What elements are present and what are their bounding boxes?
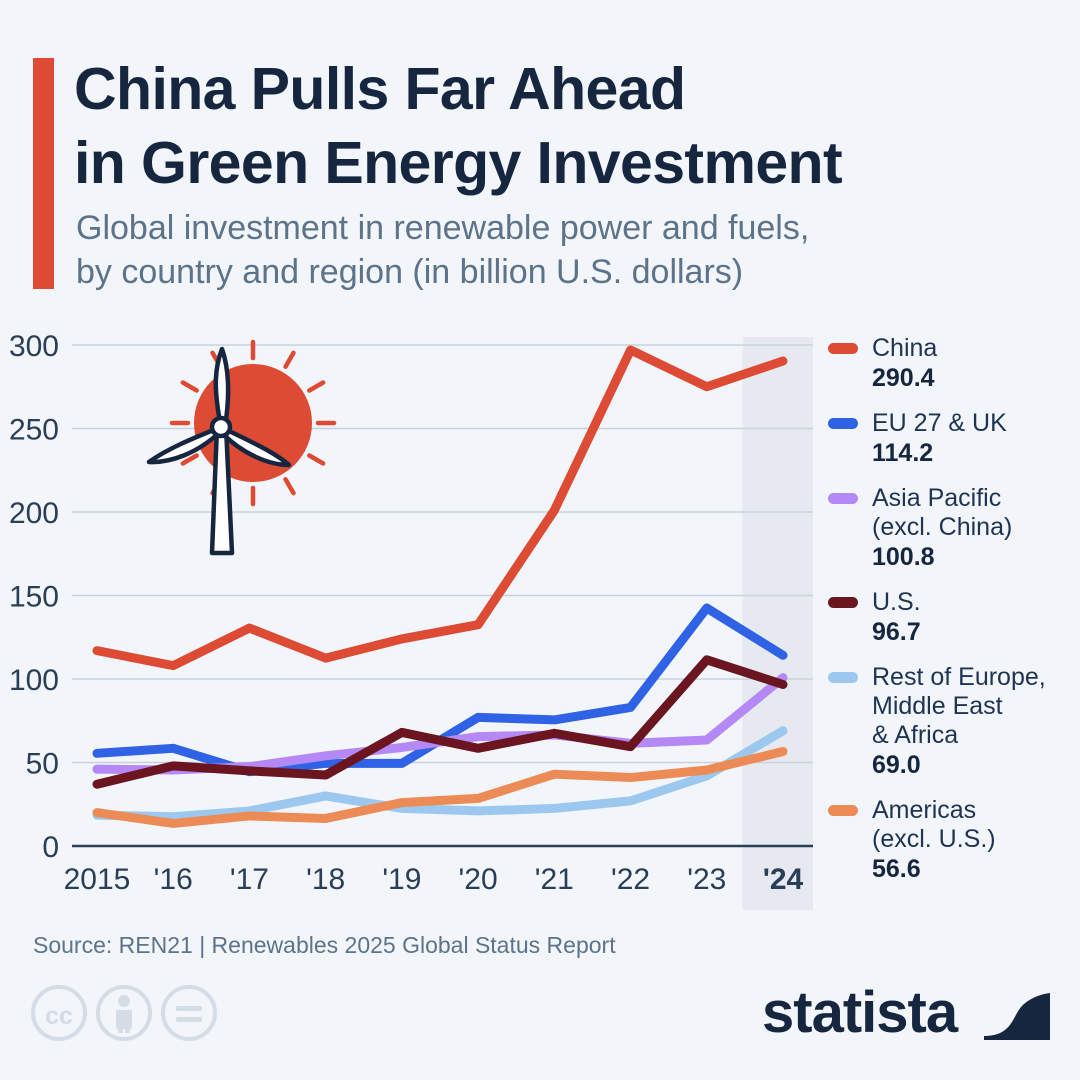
legend-value: 96.7 <box>872 617 1078 647</box>
cc-nd-icon[interactable] <box>163 987 215 1039</box>
legend-item[interactable]: Americas (excl. U.S.)56.6 <box>828 796 1078 884</box>
legend-text: Asia Pacific (excl. China)100.8 <box>872 484 1078 572</box>
x-tick-label: '22 <box>611 863 650 896</box>
turbine-tower-icon <box>212 427 232 553</box>
page-title: China Pulls Far Ahead in Green Energy In… <box>74 52 1034 200</box>
source-note: Source: REN21 | Renewables 2025 Global S… <box>33 932 616 959</box>
legend-text: Americas (excl. U.S.)56.6 <box>872 796 1078 884</box>
legend-text: China290.4 <box>872 334 1078 393</box>
x-tick-label: '18 <box>306 863 345 896</box>
legend-value: 114.2 <box>872 438 1078 468</box>
legend-text: EU 27 & UK114.2 <box>872 409 1078 468</box>
subtitle-line-1: Global investment in renewable power and… <box>76 206 1016 250</box>
legend-swatch-icon <box>828 343 858 354</box>
page-subtitle: Global investment in renewable power and… <box>76 206 1016 294</box>
legend-value: 100.8 <box>872 542 1078 572</box>
x-tick-label: '21 <box>535 863 574 896</box>
legend-swatch-icon <box>828 597 858 608</box>
y-tick-label: 50 <box>26 748 59 781</box>
legend-label: EU 27 & UK <box>872 409 1078 438</box>
y-tick-label: 150 <box>9 581 59 614</box>
turbine-hub-icon <box>212 418 230 436</box>
legend-value: 290.4 <box>872 363 1078 393</box>
person-glyph <box>116 995 132 1033</box>
y-tick-label: 250 <box>9 414 59 447</box>
title-line-2: in Green Energy Investment <box>74 126 1034 200</box>
legend-item[interactable]: Asia Pacific (excl. China)100.8 <box>828 484 1078 572</box>
y-tick-label: 100 <box>9 664 59 697</box>
gridlines-group <box>72 345 813 763</box>
y-tick-label: 300 <box>9 330 59 363</box>
title-line-1: China Pulls Far Ahead <box>74 52 1034 126</box>
x-tick-label: 2015 <box>64 863 131 896</box>
legend-label: Americas (excl. U.S.) <box>872 796 1078 854</box>
subtitle-line-2: by country and region (in billion U.S. d… <box>76 250 1016 294</box>
legend-value: 69.0 <box>872 750 1078 780</box>
legend-label: Asia Pacific (excl. China) <box>872 484 1078 542</box>
chart-legend: China290.4EU 27 & UK114.2Asia Pacific (e… <box>828 334 1078 900</box>
legend-label: U.S. <box>872 588 1078 617</box>
legend-swatch-icon <box>828 805 858 816</box>
creative-commons-icons[interactable]: cc <box>30 980 230 1046</box>
legend-swatch-icon <box>828 418 858 429</box>
wind-turbine-and-sun-illustration <box>149 342 334 553</box>
x-tick-label: '24 <box>763 863 804 896</box>
x-tick-labels-group: 2015'16'17'18'19'20'21'22'23'24 <box>64 863 804 896</box>
legend-swatch-icon <box>828 672 858 683</box>
cc-glyph: cc <box>45 1002 73 1030</box>
footer: cc statista <box>0 980 1080 1080</box>
statista-wordmark: statista <box>762 980 959 1045</box>
y-tick-label: 200 <box>9 497 59 530</box>
statista-mark <box>984 988 1050 1040</box>
y-tick-labels-group: 050100150200250300 <box>9 330 59 864</box>
legend-text: U.S.96.7 <box>872 588 1078 647</box>
x-tick-label: '23 <box>687 863 726 896</box>
highlight-band-group <box>743 337 813 910</box>
legend-value: 56.6 <box>872 854 1078 884</box>
x-tick-label: '19 <box>382 863 421 896</box>
statista-logo: statista <box>762 980 1052 1050</box>
x-tick-label: '16 <box>154 863 193 896</box>
x-tick-label: '20 <box>459 863 498 896</box>
highlight-band <box>743 337 813 910</box>
equals-glyph <box>176 1006 202 1022</box>
y-tick-label: 0 <box>42 831 59 864</box>
legend-text: Rest of Europe, Middle East & Africa69.0 <box>872 663 1078 780</box>
legend-item[interactable]: Rest of Europe, Middle East & Africa69.0 <box>828 663 1078 780</box>
legend-swatch-icon <box>828 493 858 504</box>
legend-item[interactable]: U.S.96.7 <box>828 588 1078 647</box>
svg-text:cc: cc <box>45 1002 73 1030</box>
accent-bar <box>33 58 54 289</box>
legend-item[interactable]: EU 27 & UK114.2 <box>828 409 1078 468</box>
x-tick-label: '17 <box>230 863 269 896</box>
legend-label: Rest of Europe, Middle East & Africa <box>872 663 1078 750</box>
header: China Pulls Far Ahead in Green Energy In… <box>0 0 1080 310</box>
legend-label: China <box>872 334 1078 363</box>
legend-item[interactable]: China290.4 <box>828 334 1078 393</box>
